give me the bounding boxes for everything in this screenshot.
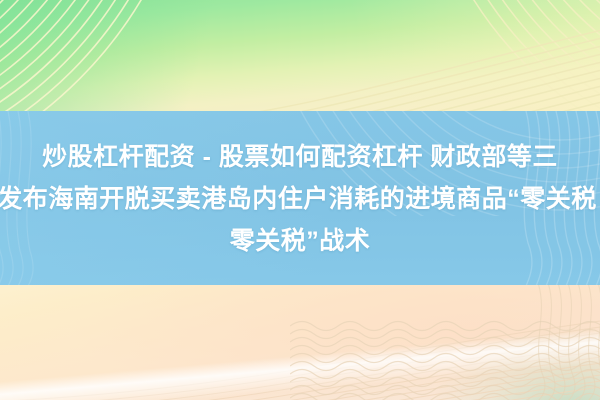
banner-image: 炒股杠杆配资 - 股票如何配资杠杆 财政部等三 发布海南开脱买卖港岛内住户消耗的…: [0, 0, 600, 400]
top-band-green-tint: [0, 0, 270, 112]
headline-block: 炒股杠杆配资 - 股票如何配资杠杆 财政部等三 发布海南开脱买卖港岛内住户消耗的…: [0, 111, 600, 286]
headline-line-1: 炒股杠杆配资 - 股票如何配资杠杆 财政部等三: [42, 138, 558, 176]
top-gradient-band: [0, 0, 600, 112]
top-band-cream-tint: [270, 0, 600, 112]
headline-line-3: 零关税”战术: [230, 222, 371, 260]
headline-line-2: 发布海南开脱买卖港岛内住户消耗的进境商品“零关税: [0, 180, 600, 218]
bottom-gradient-band: [0, 285, 600, 400]
